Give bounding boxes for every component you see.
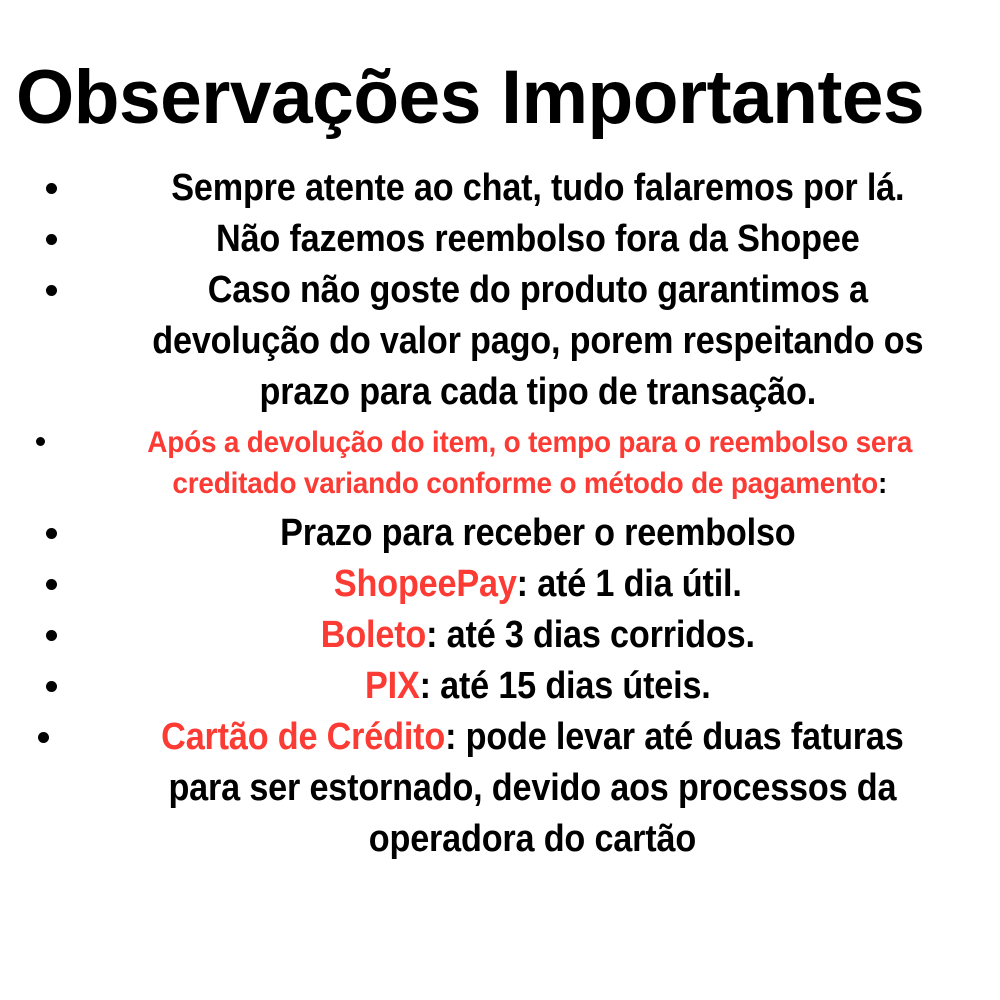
list-item: Caso não goste do produto garantimos a d… xyxy=(0,265,1000,418)
list-item: PIX: até 15 dias úteis. xyxy=(0,661,1000,712)
body-text: Não fazemos reembolso fora da Shopee xyxy=(216,218,860,260)
list-item-text: Após a devolução do item, o tempo para o… xyxy=(35,422,965,504)
highlight-text: Boleto xyxy=(321,614,426,656)
list-item-text: Boleto: até 3 dias corridos. xyxy=(50,610,950,661)
list-item-text: Cartão de Crédito: pode levar até duas f… xyxy=(50,712,950,865)
highlight-text: ShopeePay xyxy=(334,563,517,605)
body-text: : até 1 dia útil. xyxy=(517,563,742,605)
list-item: Cartão de Crédito: pode levar até duas f… xyxy=(0,712,1000,865)
list-item: Boleto: até 3 dias corridos. xyxy=(0,610,1000,661)
body-text: Prazo para receber o reembolso xyxy=(280,512,795,554)
list-item: Após a devolução do item, o tempo para o… xyxy=(0,422,1000,504)
list-item-text: Caso não goste do produto garantimos a d… xyxy=(50,265,950,418)
slide-canvas: Observações Importantes Sempre atente ao… xyxy=(0,0,1000,1000)
list-item: ShopeePay: até 1 dia útil. xyxy=(0,559,1000,610)
list-item-text: ShopeePay: até 1 dia útil. xyxy=(50,559,950,610)
list-item-text: Sempre atente ao chat, tudo falaremos po… xyxy=(50,163,950,214)
list-item: Prazo para receber o reembolso xyxy=(0,508,1000,559)
body-text: Caso não goste do produto garantimos a d… xyxy=(152,269,923,413)
bullet-dot-icon xyxy=(38,732,49,743)
list-item-text: Não fazemos reembolso fora da Shopee xyxy=(50,214,950,265)
highlight-text: PIX xyxy=(365,665,420,707)
list-item: Sempre atente ao chat, tudo falaremos po… xyxy=(0,163,1000,214)
body-text: Sempre atente ao chat, tudo falaremos po… xyxy=(171,167,904,209)
body-text: : até 3 dias corridos. xyxy=(426,614,755,656)
body-text: : até 15 dias úteis. xyxy=(420,665,711,707)
body-text: : xyxy=(878,467,887,500)
list-item-text: Prazo para receber o reembolso xyxy=(50,508,950,559)
observations-list: Sempre atente ao chat, tudo falaremos po… xyxy=(0,163,1000,865)
highlight-text: Após a devolução do item, o tempo para o… xyxy=(147,426,912,500)
list-item: Não fazemos reembolso fora da Shopee xyxy=(0,214,1000,265)
highlight-text: Cartão de Crédito xyxy=(161,716,445,758)
page-title: Observações Importantes xyxy=(16,55,969,141)
list-item-text: PIX: até 15 dias úteis. xyxy=(50,661,950,712)
